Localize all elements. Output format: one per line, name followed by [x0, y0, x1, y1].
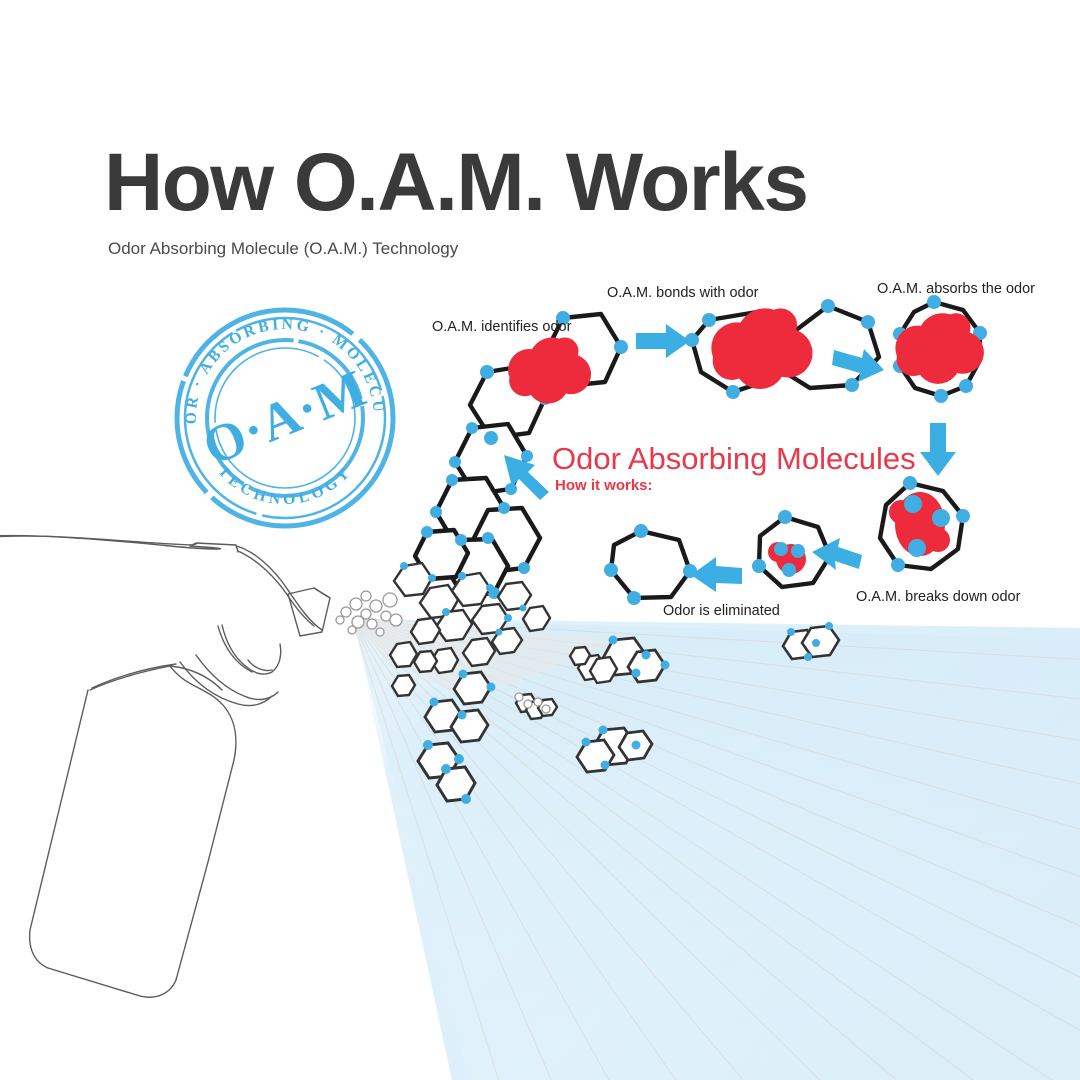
center-headline: Odor Absorbing Molecules	[552, 441, 916, 477]
oam-stamp: ODOR · ABSORBING · MOLECULES TECHNOLOGY …	[177, 310, 393, 526]
page-subtitle: Odor Absorbing Molecule (O.A.M.) Technol…	[108, 239, 458, 259]
center-subhead: How it works:	[555, 477, 653, 494]
page-title: How O.A.M. Works	[104, 142, 807, 224]
step-label-breaks: O.A.M. breaks down odor	[856, 589, 1020, 605]
step-label-bonds: O.A.M. bonds with odor	[607, 285, 759, 301]
arrow-down	[920, 423, 956, 476]
stamp-outer-text-bottom: TECHNOLOGY	[214, 463, 355, 509]
step-label-absorbs: O.A.M. absorbs the odor	[877, 281, 1035, 297]
molecule-step-eliminated	[611, 531, 690, 598]
step-label-eliminated: Odor is eliminated	[663, 603, 780, 619]
step-label-identify: O.A.M. identifies odor	[432, 319, 571, 335]
infographic-page: ODOR · ABSORBING · MOLECULES TECHNOLOGY …	[0, 0, 1080, 1080]
arrow-left-2	[691, 557, 742, 592]
arrow-right-1	[636, 324, 690, 358]
spray-bottle-line-art	[0, 536, 330, 998]
stamp-center-text: O·A·M	[195, 359, 374, 476]
